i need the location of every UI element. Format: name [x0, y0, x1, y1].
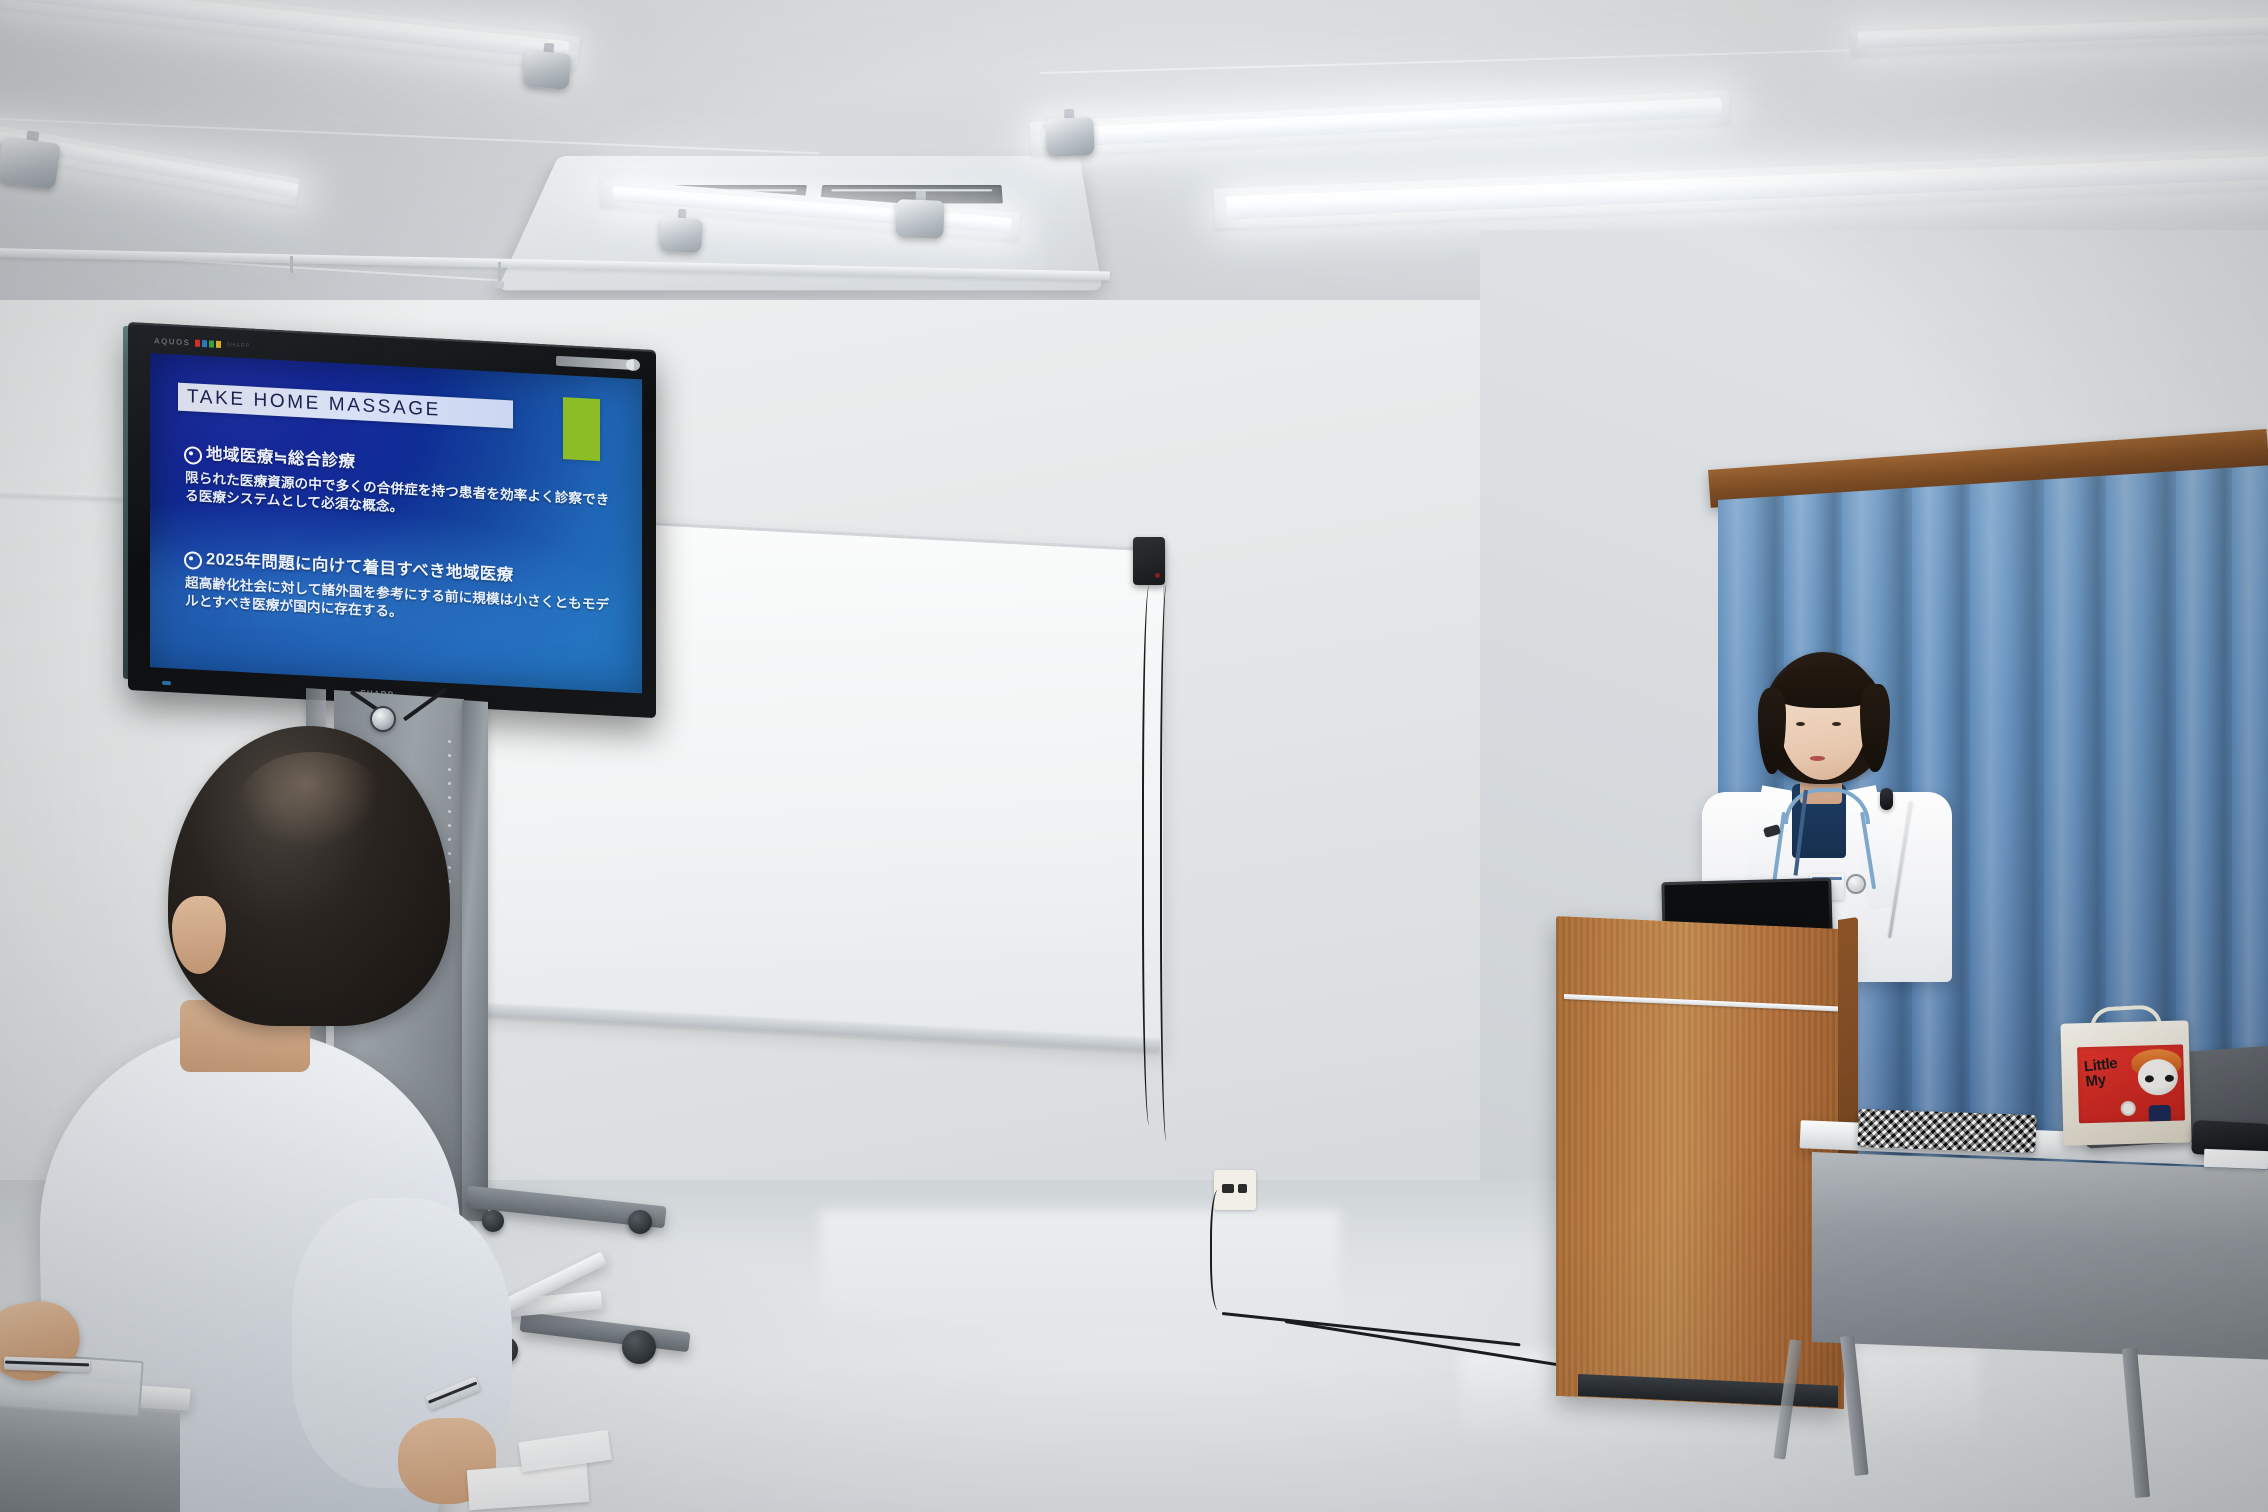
microphone-head[interactable]: [1880, 788, 1893, 810]
stand-caster-wheel: [622, 1330, 656, 1364]
table-modesty-panel: [0, 1400, 180, 1512]
track-spot-light: [659, 217, 703, 253]
display-power-led: [162, 681, 171, 685]
canvas-tote-bag: Little My: [2060, 1020, 2191, 1145]
display-ir-receiver-icon: [626, 359, 640, 372]
tote-bag-print: Little My: [2077, 1044, 2185, 1123]
slide-title-text: TAKE HOME MASSAGE: [187, 386, 441, 422]
bullet-ring-icon: [184, 446, 202, 465]
bullet-1-heading-text: 地域医療≒総合診療: [206, 444, 355, 473]
tote-print-line-2: My: [2085, 1071, 2107, 1090]
paper-sheet: [2204, 1149, 2268, 1169]
slide-body: 地域医療≒総合診療 限られた医療資源の中で多くの合併症を持つ患者を効率よく診察で…: [184, 443, 620, 634]
brand-name: AQUOS: [154, 336, 190, 347]
stethoscope-chestpiece: [1846, 874, 1866, 894]
wall-mounted-lcd-display[interactable]: AQUOS SHARP SHARP TAKE HOME MASSAGE 地域医療…: [128, 322, 656, 718]
track-spot-light: [1045, 117, 1094, 157]
track-spot-light: [0, 136, 61, 190]
power-cable: [1210, 1190, 1230, 1310]
stand-caster-wheel: [628, 1210, 652, 1234]
wall-mounted-speaker: [1133, 537, 1165, 585]
presentation-slide: TAKE HOME MASSAGE 地域医療≒総合診療 限られた医療資源の中で多…: [150, 353, 642, 693]
speaker-cable: [1160, 585, 1176, 1141]
track-spot-light: [523, 50, 572, 90]
slide-accent-block: [563, 397, 600, 461]
hair: [168, 726, 450, 1026]
slide-title-bar: TAKE HOME MASSAGE: [178, 383, 513, 429]
houndstooth-wallet: [1857, 1109, 2036, 1153]
speaker-cable: [1142, 585, 1160, 1125]
track-spot-light: [895, 199, 944, 239]
bullet-ring-icon: [184, 551, 202, 570]
conference-room-photo: AQUOS SHARP SHARP TAKE HOME MASSAGE 地域医療…: [0, 0, 2268, 1512]
brand-sub: SHARP: [226, 342, 250, 349]
brand-dots-icon: [195, 340, 221, 348]
table-modesty-panel: [1812, 1152, 2268, 1360]
picture-hook: [290, 256, 293, 280]
picture-hook: [498, 262, 501, 288]
wooden-lectern: [1556, 916, 1844, 1409]
